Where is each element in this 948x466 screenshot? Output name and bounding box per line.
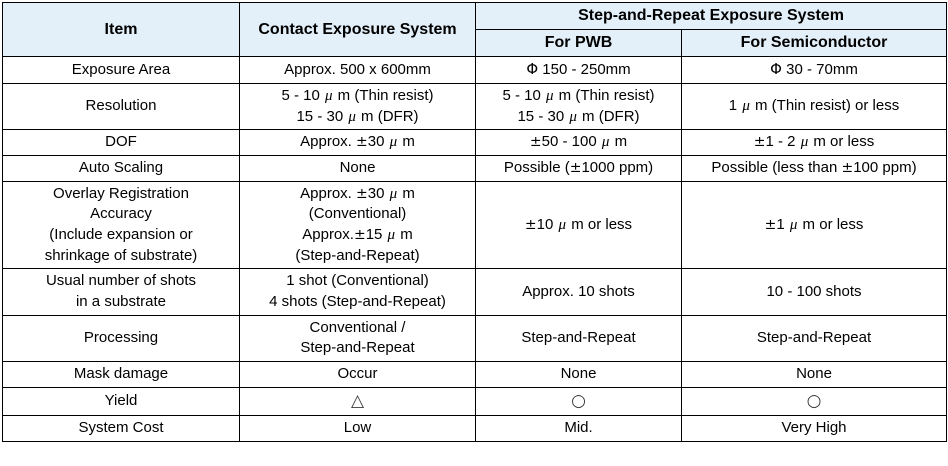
table-body: Exposure AreaApprox. 500 x 600mmΦ 150 - … bbox=[3, 57, 947, 442]
cell-for-pwb: Φ 150 - 250mm bbox=[476, 57, 682, 84]
row-item-label: Resolution bbox=[3, 83, 240, 129]
cell-for-semiconductor: Possible (less than ±100 ppm) bbox=[682, 155, 947, 181]
cell-for-semiconductor: Φ 30 - 70mm bbox=[682, 57, 947, 84]
table-row: Usual number of shotsin a substrate1 sho… bbox=[3, 269, 947, 315]
cell-for-pwb: None bbox=[476, 362, 682, 388]
cell-contact: Occur bbox=[240, 362, 476, 388]
header-for-pwb: For PWB bbox=[476, 30, 682, 57]
table-row: Auto ScalingNonePossible (±1000 ppm)Poss… bbox=[3, 155, 947, 181]
cell-contact: △ bbox=[240, 387, 476, 415]
row-item-label: Processing bbox=[3, 315, 240, 361]
row-item-label: Auto Scaling bbox=[3, 155, 240, 181]
cell-for-pwb: ±10 μ m or less bbox=[476, 181, 682, 269]
cell-for-semiconductor: 10 - 100 shots bbox=[682, 269, 947, 315]
cell-for-pwb: ○ bbox=[476, 387, 682, 415]
row-item-label: DOF bbox=[3, 130, 240, 156]
cell-for-pwb: Possible (±1000 ppm) bbox=[476, 155, 682, 181]
row-item-label: Usual number of shotsin a substrate bbox=[3, 269, 240, 315]
row-item-label: Mask damage bbox=[3, 362, 240, 388]
table-row: Exposure AreaApprox. 500 x 600mmΦ 150 - … bbox=[3, 57, 947, 84]
cell-for-pwb: Step-and-Repeat bbox=[476, 315, 682, 361]
cell-contact: None bbox=[240, 155, 476, 181]
cell-for-semiconductor: ○ bbox=[682, 387, 947, 415]
table-row: Resolution5 - 10 μ m (Thin resist)15 - 3… bbox=[3, 83, 947, 129]
header-row-group: Item Contact Exposure System Step-and-Re… bbox=[3, 3, 947, 30]
cell-contact: Conventional /Step-and-Repeat bbox=[240, 315, 476, 361]
header-step-and-repeat-group: Step-and-Repeat Exposure System bbox=[476, 3, 947, 30]
cell-for-semiconductor: ±1 - 2 μ m or less bbox=[682, 130, 947, 156]
row-item-label: Yield bbox=[3, 387, 240, 415]
header-item: Item bbox=[3, 3, 240, 57]
cell-contact: Approx. ±30 μ m bbox=[240, 130, 476, 156]
cell-for-semiconductor: Very High bbox=[682, 416, 947, 442]
table-row: Mask damageOccurNoneNone bbox=[3, 362, 947, 388]
table-row: ProcessingConventional /Step-and-RepeatS… bbox=[3, 315, 947, 361]
cell-for-pwb: Mid. bbox=[476, 416, 682, 442]
table-header: Item Contact Exposure System Step-and-Re… bbox=[3, 3, 947, 57]
cell-contact: Approx. ±30 μ m(Conventional)Approx.±15 … bbox=[240, 181, 476, 269]
cell-for-semiconductor: Step-and-Repeat bbox=[682, 315, 947, 361]
cell-for-pwb: ±50 - 100 μ m bbox=[476, 130, 682, 156]
cell-for-pwb: Approx. 10 shots bbox=[476, 269, 682, 315]
cell-for-semiconductor: 1 μ m (Thin resist) or less bbox=[682, 83, 947, 129]
row-item-label: System Cost bbox=[3, 416, 240, 442]
header-contact-exposure-system: Contact Exposure System bbox=[240, 3, 476, 57]
cell-for-pwb: 5 - 10 μ m (Thin resist)15 - 30 μ m (DFR… bbox=[476, 83, 682, 129]
cell-contact: Low bbox=[240, 416, 476, 442]
table-row: DOFApprox. ±30 μ m±50 - 100 μ m±1 - 2 μ … bbox=[3, 130, 947, 156]
row-item-label: Overlay RegistrationAccuracy(Include exp… bbox=[3, 181, 240, 269]
table-row: Overlay RegistrationAccuracy(Include exp… bbox=[3, 181, 947, 269]
cell-for-semiconductor: ±1 μ m or less bbox=[682, 181, 947, 269]
comparison-table: Item Contact Exposure System Step-and-Re… bbox=[2, 2, 947, 442]
cell-contact: 5 - 10 μ m (Thin resist)15 - 30 μ m (DFR… bbox=[240, 83, 476, 129]
table-row: System CostLowMid.Very High bbox=[3, 416, 947, 442]
cell-contact: 1 shot (Conventional)4 shots (Step-and-R… bbox=[240, 269, 476, 315]
cell-contact: Approx. 500 x 600mm bbox=[240, 57, 476, 84]
header-for-semiconductor: For Semiconductor bbox=[682, 30, 947, 57]
cell-for-semiconductor: None bbox=[682, 362, 947, 388]
table-row: Yield△○○ bbox=[3, 387, 947, 415]
row-item-label: Exposure Area bbox=[3, 57, 240, 84]
